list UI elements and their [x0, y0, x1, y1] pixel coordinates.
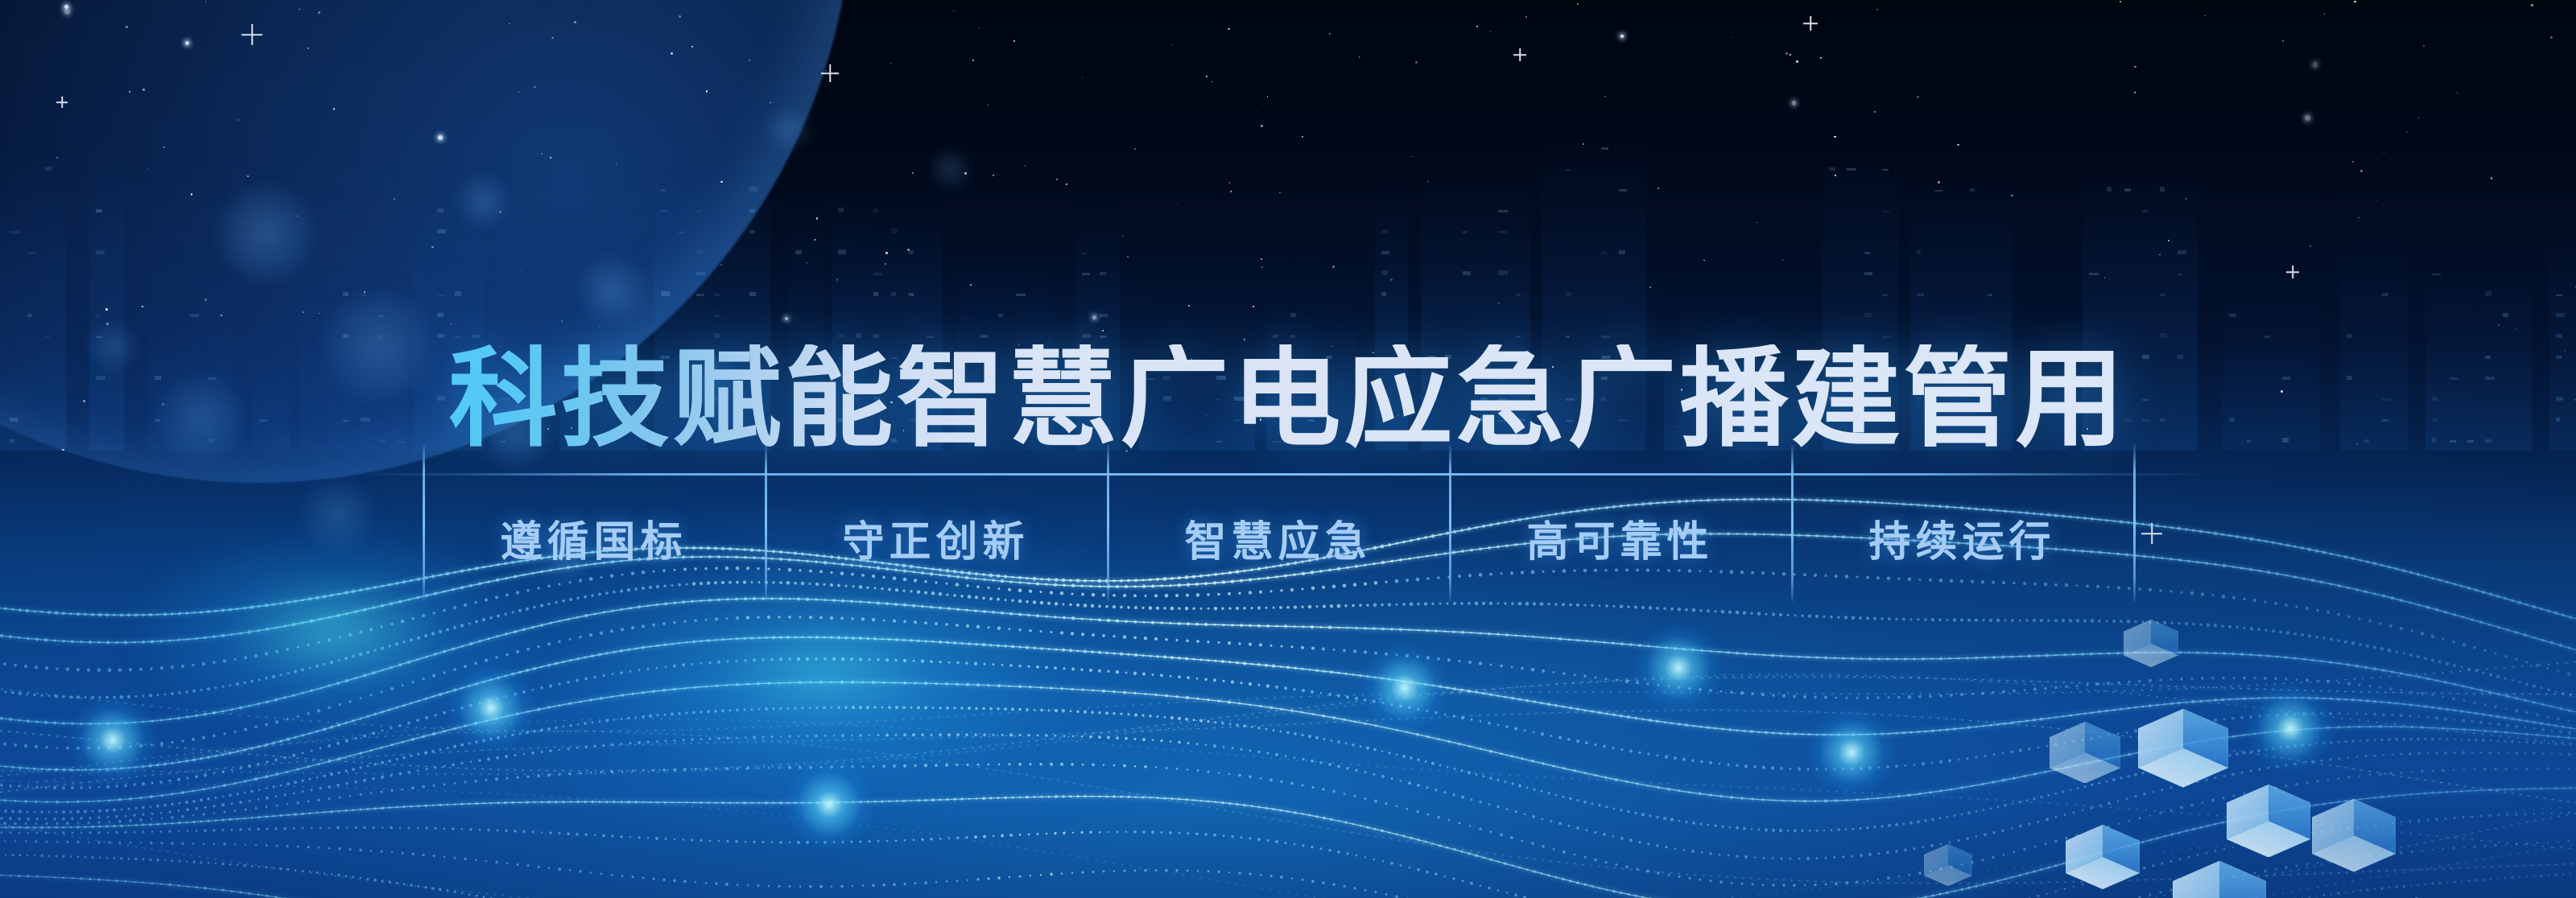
- keyword-label: 持续运行: [1868, 508, 2055, 568]
- keyword-list: 遵循国标守正创新智慧应急高可靠性持续运行: [423, 473, 2133, 602]
- hexagon-icon: [2312, 799, 2396, 871]
- keyword-label: 智慧应急: [1184, 508, 1371, 568]
- hexagon-icon: [2050, 722, 2120, 784]
- hexagon-icon: [1924, 844, 1972, 886]
- keyword-divider: [2133, 444, 2136, 602]
- hexagon-icon: [2173, 861, 2266, 898]
- keyword-label: 守正创新: [842, 508, 1029, 568]
- keyword-item-1[interactable]: 遵循国标: [423, 473, 765, 602]
- keyword-item-4[interactable]: 高可靠性: [1449, 473, 1791, 602]
- keyword-item-5[interactable]: 持续运行: [1791, 473, 2133, 602]
- hexagon-icon: [2066, 825, 2140, 889]
- keyword-divider: [423, 444, 425, 602]
- keyword-item-3[interactable]: 智慧应急: [1107, 473, 1449, 602]
- keyword-divider: [1107, 444, 1109, 602]
- keyword-label: 高可靠性: [1526, 508, 1713, 568]
- keyword-divider: [1791, 444, 1794, 602]
- hexagon-icon: [2138, 709, 2228, 787]
- page-title: 科技赋能智慧广电应急广播建管用: [0, 344, 2576, 453]
- hexagon-icon: [2124, 620, 2178, 667]
- keyword-divider: [765, 444, 767, 602]
- keyword-label: 遵循国标: [500, 508, 687, 568]
- keyword-item-2[interactable]: 守正创新: [765, 473, 1107, 602]
- keyword-divider: [1449, 444, 1451, 602]
- promo-banner: 科技赋能智慧广电应急广播建管用 遵循国标守正创新智慧应急高可靠性持续运行: [0, 0, 2576, 898]
- hexagon-icon: [2227, 785, 2310, 857]
